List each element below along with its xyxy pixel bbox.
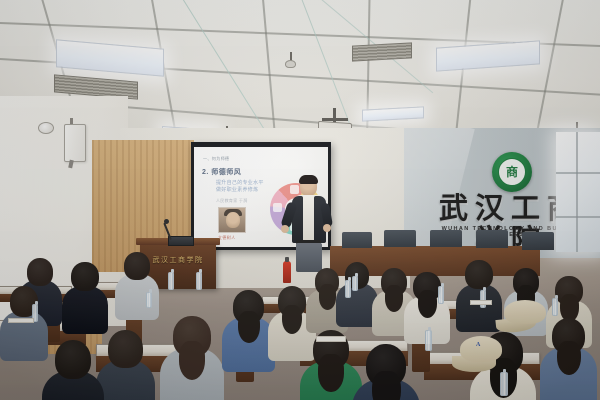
podium-laptop bbox=[168, 236, 194, 246]
audience-member-hair bbox=[372, 371, 400, 400]
cap-logo-icon: A bbox=[476, 342, 480, 348]
presenter-hand-left bbox=[281, 225, 289, 233]
audience-member-head bbox=[71, 262, 98, 291]
audience-member-hair bbox=[319, 284, 336, 309]
university-emblem-icon: 商 bbox=[492, 152, 532, 192]
stage-chair-2 bbox=[384, 230, 416, 247]
water-bottle-3 bbox=[196, 272, 202, 290]
sprinkler-head-1 bbox=[285, 60, 296, 68]
audience-member bbox=[42, 340, 104, 400]
wheel-icon-left bbox=[273, 203, 282, 212]
water-bottle-7 bbox=[480, 290, 486, 308]
stage-chair-3 bbox=[430, 230, 462, 247]
slide-portrait-image bbox=[218, 207, 246, 233]
water-bottle-4 bbox=[345, 280, 351, 298]
audience-member bbox=[540, 318, 597, 400]
paper-1 bbox=[8, 318, 34, 323]
slide-header: 一、何为师德 bbox=[203, 156, 229, 162]
paper-2 bbox=[316, 336, 346, 342]
audience-member bbox=[352, 344, 420, 400]
panel-light-2 bbox=[436, 40, 540, 71]
fire-extinguisher bbox=[283, 261, 291, 283]
audience-member bbox=[160, 316, 224, 400]
audience-member bbox=[96, 330, 155, 400]
audience-member-head bbox=[124, 252, 150, 280]
panel-light-1 bbox=[56, 39, 164, 76]
audience-member bbox=[62, 262, 108, 340]
smoke-detector bbox=[38, 122, 54, 134]
stage-chair-1 bbox=[342, 232, 372, 248]
water-bottle-10 bbox=[500, 372, 508, 396]
slide-portrait-face bbox=[226, 212, 240, 228]
emblem-character: 商 bbox=[505, 165, 519, 180]
water-bottle-5 bbox=[352, 276, 358, 291]
audience-member-body bbox=[62, 286, 108, 334]
lecture-hall-photo: 商 武汉工商学院 WUHAN TECHNOLOGY AND BUSINESS U… bbox=[0, 0, 600, 400]
audience-member bbox=[115, 252, 159, 326]
slide-title: 2. 师德师风 bbox=[202, 167, 241, 177]
right-window bbox=[556, 132, 600, 252]
audience-member-head bbox=[27, 258, 53, 286]
water-bottle-9 bbox=[425, 330, 432, 351]
water-bottle-11 bbox=[146, 292, 152, 308]
presenter bbox=[286, 176, 332, 272]
water-bottle-2 bbox=[168, 272, 174, 290]
slide-caption: 立德树人 bbox=[218, 235, 236, 241]
audience-member-head bbox=[108, 330, 143, 368]
stage-chair-5 bbox=[522, 232, 554, 250]
stage-chair-4 bbox=[476, 230, 508, 248]
audience-member bbox=[222, 290, 275, 379]
baseball-cap-2 bbox=[504, 300, 546, 324]
slide-body-line-2: 做好职业素养修炼 bbox=[216, 187, 258, 194]
audience-member-body bbox=[115, 274, 159, 320]
audience-member-hair bbox=[318, 354, 343, 391]
presenter-hand-right bbox=[323, 224, 331, 232]
audience-member-head bbox=[55, 340, 91, 379]
audience-member-hair bbox=[418, 290, 437, 318]
audience-member-hair bbox=[557, 341, 581, 376]
air-vent-2 bbox=[352, 42, 412, 61]
paper-3 bbox=[470, 300, 492, 305]
audience-member-hair bbox=[179, 341, 205, 380]
audience-member-head bbox=[465, 260, 492, 289]
panel-light-3 bbox=[362, 106, 424, 121]
water-bottle-8 bbox=[552, 298, 558, 316]
microphone-head bbox=[164, 219, 169, 224]
audience-member-hair bbox=[238, 311, 260, 343]
wall-speaker bbox=[64, 124, 86, 162]
water-bottle-6 bbox=[438, 286, 444, 304]
slide-note: 人民教育家 于漪 bbox=[216, 198, 248, 204]
baseball-cap bbox=[460, 336, 502, 362]
slide-body-line-1: 提升自己的专业水平 bbox=[216, 180, 264, 187]
presenter-hair bbox=[299, 175, 318, 184]
